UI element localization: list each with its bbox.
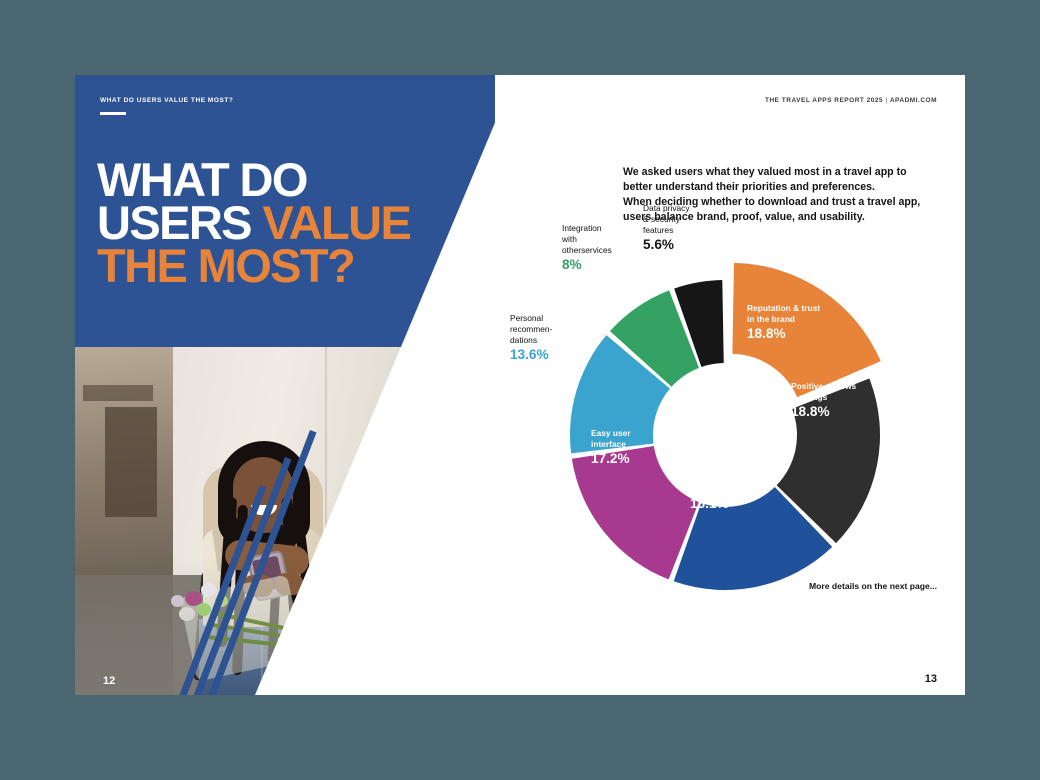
photo-street-door xyxy=(105,407,157,517)
slice-label-line-1: Easy user xyxy=(591,428,631,438)
slice-value-discounts: 18.1% xyxy=(690,496,741,512)
photo-flower xyxy=(171,595,184,607)
slice-label-discounts: Discounts or deal offers 18.1% xyxy=(690,473,741,513)
page-number-right: 13 xyxy=(925,673,937,685)
slice-label-line-2: in the brand xyxy=(747,314,795,324)
slice-label-line-2: & security xyxy=(643,214,680,224)
photo-flower xyxy=(179,607,195,621)
photo-flower xyxy=(197,603,211,616)
slice-label-privacy: Data privacy & security features 5.6% xyxy=(643,203,690,254)
right-page: THE TRAVEL APPS REPORT 2025 | APADMI.COM… xyxy=(495,75,965,695)
page-number-left: 12 xyxy=(103,675,115,687)
kicker-separator: | xyxy=(885,97,887,104)
eyebrow-label: WHAT DO USERS VALUE THE MOST? xyxy=(100,97,233,104)
photo-flower xyxy=(201,583,216,597)
slice-label-line-3: dations xyxy=(510,335,537,345)
slice-label-line-1: Positive reviews xyxy=(791,381,856,391)
slice-label-recommendations: Personal recommen- dations 13.6% xyxy=(510,313,552,364)
slice-label-line-1: Data privacy xyxy=(643,203,690,213)
report-kicker: THE TRAVEL APPS REPORT 2025 | APADMI.COM xyxy=(765,97,937,104)
slice-value-reviews: 18.8% xyxy=(791,404,856,420)
title-line-1: WHAT DO xyxy=(97,158,495,201)
kicker-site: APADMI.COM xyxy=(890,97,937,104)
footnote: More details on the next page... xyxy=(809,581,937,591)
slice-label-line-3: features xyxy=(643,225,673,235)
slice-label-line-1: Reputation & trust xyxy=(747,303,820,313)
intro-line-2: better understand their priorities and p… xyxy=(623,180,953,195)
title-line-2: USERS VALUE xyxy=(97,201,495,244)
slice-label-line-2: interface xyxy=(591,439,626,449)
slice-label-interface: Easy user interface 17.2% xyxy=(591,428,631,468)
eyebrow-rule xyxy=(100,112,126,115)
report-spread: WHAT DO USERS VALUE THE MOST? WHAT DO US… xyxy=(75,75,965,695)
slice-label-line-2: with xyxy=(562,234,577,244)
slice-value-interface: 17.2% xyxy=(591,451,631,467)
left-page: WHAT DO USERS VALUE THE MOST? WHAT DO US… xyxy=(75,75,495,695)
slice-label-reputation: Reputation & trust in the brand 18.8% xyxy=(747,303,820,343)
slice-label-line-2: recommen- xyxy=(510,324,552,334)
slice-value-recommendations: 13.6% xyxy=(510,347,552,363)
kicker-report-name: THE TRAVEL APPS REPORT 2025 xyxy=(765,97,883,104)
photo-street-sign xyxy=(83,385,153,401)
slice-label-line-1: Discounts or xyxy=(690,473,741,483)
slice-label-integration: Integration with otherservices 8% xyxy=(562,223,612,274)
slice-label-line-3: otherservices xyxy=(562,245,612,255)
slice-label-line-1: Personal xyxy=(510,313,543,323)
slice-value-privacy: 5.6% xyxy=(643,237,690,253)
intro-line-1: We asked users what they valued most in … xyxy=(623,165,953,180)
slice-value-integration: 8% xyxy=(562,257,612,273)
slice-value-reputation: 18.8% xyxy=(747,326,820,342)
slice-label-reviews: Positive reviews & ratings 18.8% xyxy=(791,381,856,421)
slice-label-line-1: Integration xyxy=(562,223,602,233)
slice-label-line-2: & ratings xyxy=(791,392,827,402)
slice-label-line-2: deal offers xyxy=(690,484,732,494)
